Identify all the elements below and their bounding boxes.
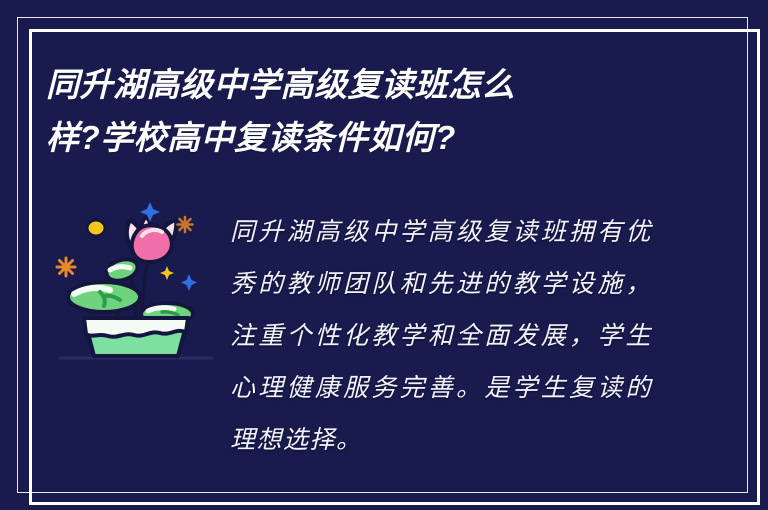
body-paragraph: 同升湖高级中学高级复读班拥有优秀的教师团队和先进的教学设施，注重个性化教学和全面…	[230, 206, 652, 466]
small-leaf	[104, 256, 141, 285]
poster-canvas: 同升湖高级中学高级复读班怎么 样?学校高中复读条件如何? 同升湖高级中学高级复读…	[0, 0, 768, 510]
sparkle-orange-burst-left	[57, 258, 75, 276]
sparkle-yellow-small	[160, 266, 174, 280]
lotus-flower	[127, 216, 176, 262]
page-title-line-1: 同升湖高级中学高级复读班怎么	[46, 58, 706, 111]
page-title: 同升湖高级中学高级复读班怎么 样?学校高中复读条件如何?	[46, 58, 706, 165]
sparkle-blue-diamond-right	[181, 274, 197, 291]
sparkle-yellow-dot	[87, 220, 105, 236]
sparkle-orange-burst-right	[178, 217, 193, 232]
lily-pad-left	[68, 282, 140, 312]
page-title-line-2: 样?学校高中复读条件如何?	[46, 111, 706, 164]
flower-pot	[84, 318, 188, 356]
potted-lotus-illustration	[52, 196, 220, 374]
